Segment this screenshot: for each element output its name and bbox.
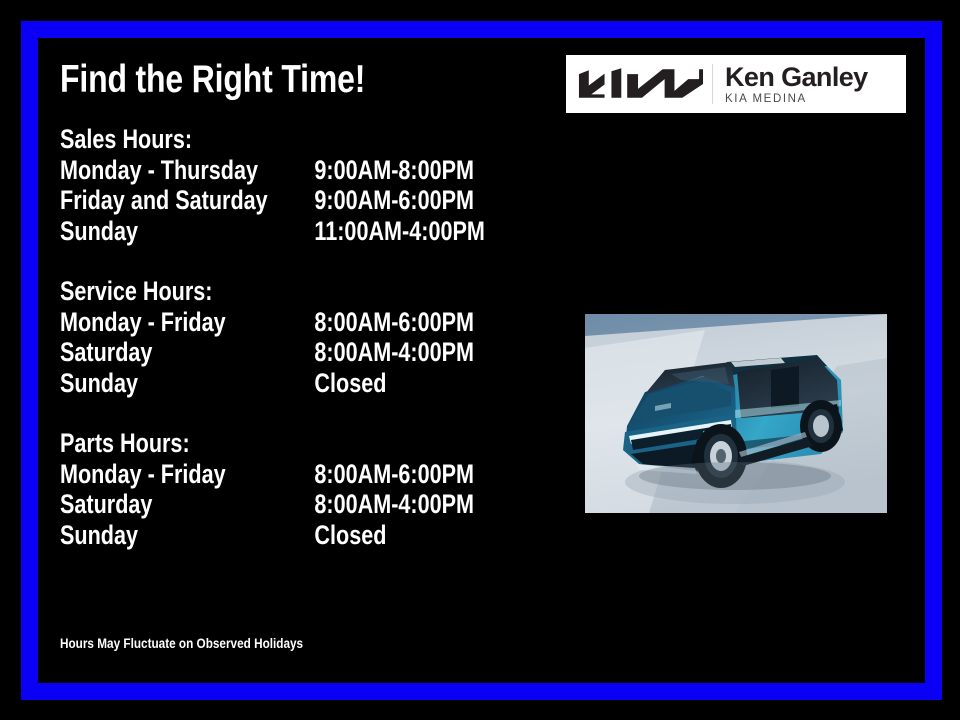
- row-days: Friday and Saturday: [60, 185, 268, 216]
- row-time: 9:00AM-8:00PM: [314, 155, 474, 186]
- table-row: Monday - Thursday 9:00AM-8:00PM: [60, 155, 268, 186]
- row-days: Monday - Friday: [60, 459, 226, 490]
- table-row: Saturday 8:00AM-4:00PM: [60, 337, 226, 368]
- dealer-name-group: Ken Ganley KIA MEDINA: [725, 63, 892, 106]
- row-days: Monday - Thursday: [60, 155, 258, 186]
- table-row: Sunday 11:00AM-4:00PM: [60, 216, 268, 247]
- dealer-secondary-name: KIA MEDINA: [725, 92, 892, 106]
- row-days: Sunday: [60, 520, 138, 551]
- row-days: Saturday: [60, 489, 152, 520]
- row-time: 8:00AM-4:00PM: [314, 337, 474, 368]
- kia-logo-icon: [576, 67, 704, 101]
- page-title: Find the Right Time!: [60, 58, 365, 102]
- slide-canvas: Find the Right Time! Sales Hours: Monday…: [0, 0, 960, 720]
- service-hours-block: Service Hours: Monday - Friday 8:00AM-6:…: [60, 276, 226, 398]
- table-row: Monday - Friday 8:00AM-6:00PM: [60, 459, 226, 490]
- parts-hours-block: Parts Hours: Monday - Friday 8:00AM-6:00…: [60, 428, 226, 550]
- table-row: Friday and Saturday 9:00AM-6:00PM: [60, 185, 268, 216]
- row-time: 8:00AM-4:00PM: [314, 489, 474, 520]
- kia-ev9-suv-photo: [585, 314, 887, 513]
- row-days: Saturday: [60, 337, 152, 368]
- table-row: Sunday Closed: [60, 520, 226, 551]
- dealer-primary-name: Ken Ganley: [725, 63, 892, 91]
- table-row: Saturday 8:00AM-4:00PM: [60, 489, 226, 520]
- table-row: Monday - Friday 8:00AM-6:00PM: [60, 307, 226, 338]
- sales-hours-block: Sales Hours: Monday - Thursday 9:00AM-8:…: [60, 124, 268, 246]
- row-days: Sunday: [60, 368, 138, 399]
- row-time: 8:00AM-6:00PM: [314, 307, 474, 338]
- sales-hours-heading: Sales Hours:: [60, 124, 268, 155]
- banner-divider: [712, 64, 713, 104]
- row-time: 9:00AM-6:00PM: [314, 185, 474, 216]
- row-time: Closed: [314, 368, 386, 399]
- dealer-logo-banner: Ken Ganley KIA MEDINA: [566, 55, 906, 113]
- row-time: 11:00AM-4:00PM: [314, 216, 484, 247]
- row-days: Sunday: [60, 216, 138, 247]
- row-time: Closed: [314, 520, 386, 551]
- table-row: Sunday Closed: [60, 368, 226, 399]
- service-hours-heading: Service Hours:: [60, 276, 226, 307]
- holiday-disclaimer: Hours May Fluctuate on Observed Holidays: [60, 634, 303, 652]
- row-time: 8:00AM-6:00PM: [314, 459, 474, 490]
- row-days: Monday - Friday: [60, 307, 226, 338]
- parts-hours-heading: Parts Hours:: [60, 428, 226, 459]
